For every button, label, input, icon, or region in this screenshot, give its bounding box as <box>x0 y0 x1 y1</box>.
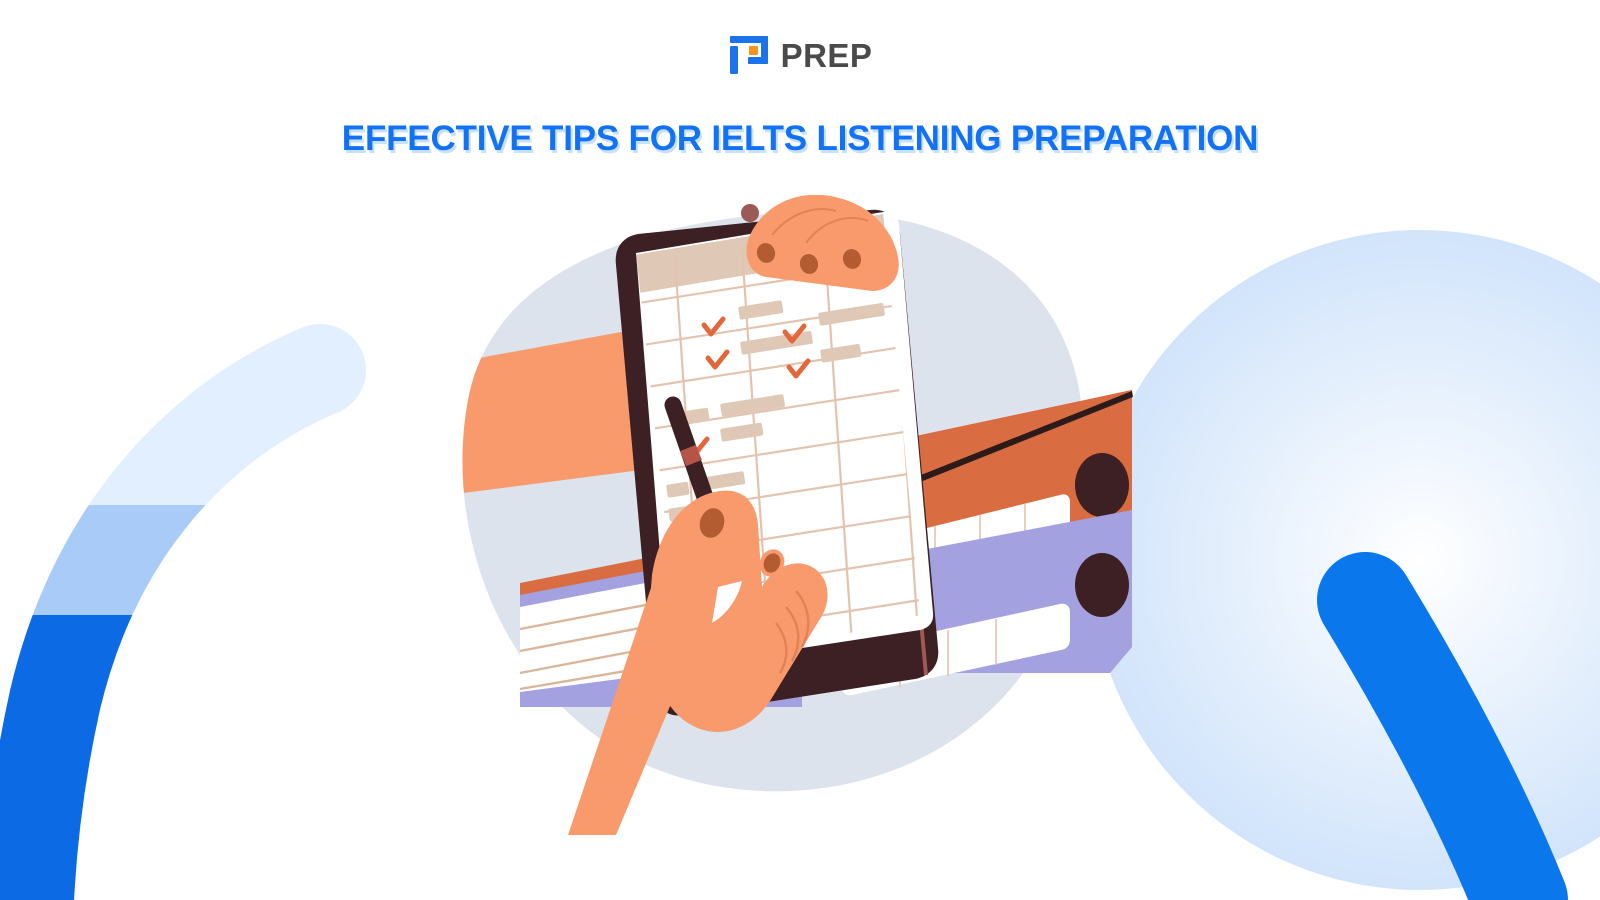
left-stroke-strong <box>28 370 320 900</box>
hero-illustration <box>420 195 1160 835</box>
hand-top-grip <box>747 195 899 291</box>
page-canvas: PREP EFFECTIVE TIPS FOR IELTS LISTENING … <box>0 0 1600 900</box>
right-glow <box>1090 230 1600 890</box>
tablet-camera-dot <box>741 204 759 222</box>
brand-wordmark: PREP <box>781 39 873 72</box>
page-title: EFFECTIVE TIPS FOR IELTS LISTENING PREPA… <box>0 119 1600 159</box>
brand-logo[interactable]: PREP <box>0 0 1600 76</box>
left-stroke-medium <box>28 370 320 900</box>
right-curved-stroke <box>1365 600 1520 900</box>
illustration-svg <box>420 195 1160 835</box>
binder-orange-ring <box>1075 453 1129 517</box>
prep-logo-mark-icon <box>728 34 770 76</box>
left-curved-stroke <box>28 370 320 900</box>
left-stroke-pale <box>28 370 320 900</box>
binder-purple-ring <box>1075 553 1129 617</box>
page-header: PREP EFFECTIVE TIPS FOR IELTS LISTENING … <box>0 0 1600 159</box>
